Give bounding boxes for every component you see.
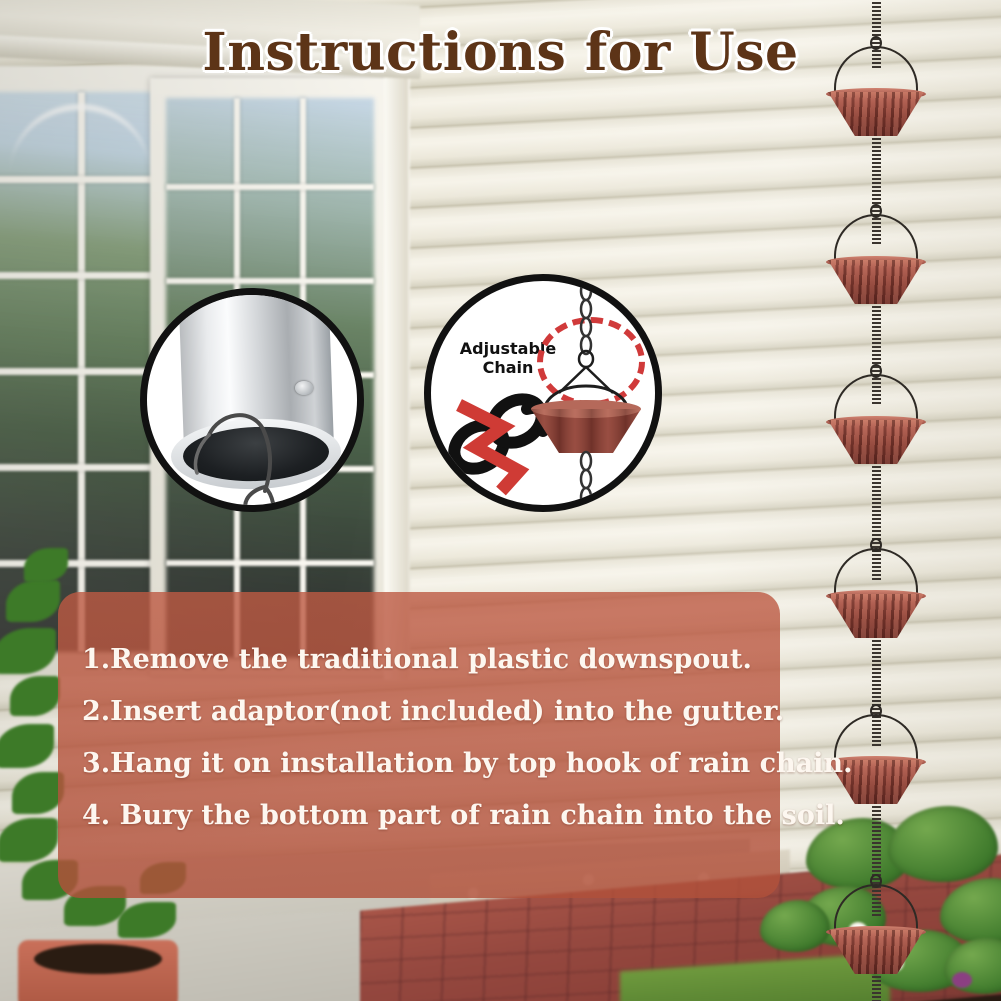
- page-title: Instructions for Use: [0, 22, 1001, 83]
- rain-chain-product: [816, 0, 936, 1001]
- instructions-panel: 1.Remove the traditional plastic downspo…: [58, 592, 780, 898]
- pot-soil: [34, 944, 162, 974]
- cup-flutes: [828, 92, 924, 136]
- cup-flutes: [828, 930, 924, 974]
- s-hook-icon: [147, 295, 364, 512]
- instruction-step: 2.Insert adaptor(not included) into the …: [82, 686, 780, 738]
- cup-flutes: [828, 260, 924, 304]
- callout-downspout-hook: [140, 288, 364, 512]
- product-instruction-image: Instructions for Use Adjustable Chain: [0, 0, 1001, 1001]
- instruction-step: 4. Bury the bottom part of rain chain in…: [82, 790, 780, 842]
- callout-adjustable-chain: Adjustable Chain: [424, 274, 662, 512]
- cup-flutes: [828, 420, 924, 464]
- instruction-step: 1.Remove the traditional plastic downspo…: [82, 634, 780, 686]
- purple-flower: [952, 972, 972, 988]
- cup-flutes: [828, 594, 924, 638]
- chain-with-cup-diagram: [431, 281, 662, 512]
- instruction-step: 3.Hang it on installation by top hook of…: [82, 738, 780, 790]
